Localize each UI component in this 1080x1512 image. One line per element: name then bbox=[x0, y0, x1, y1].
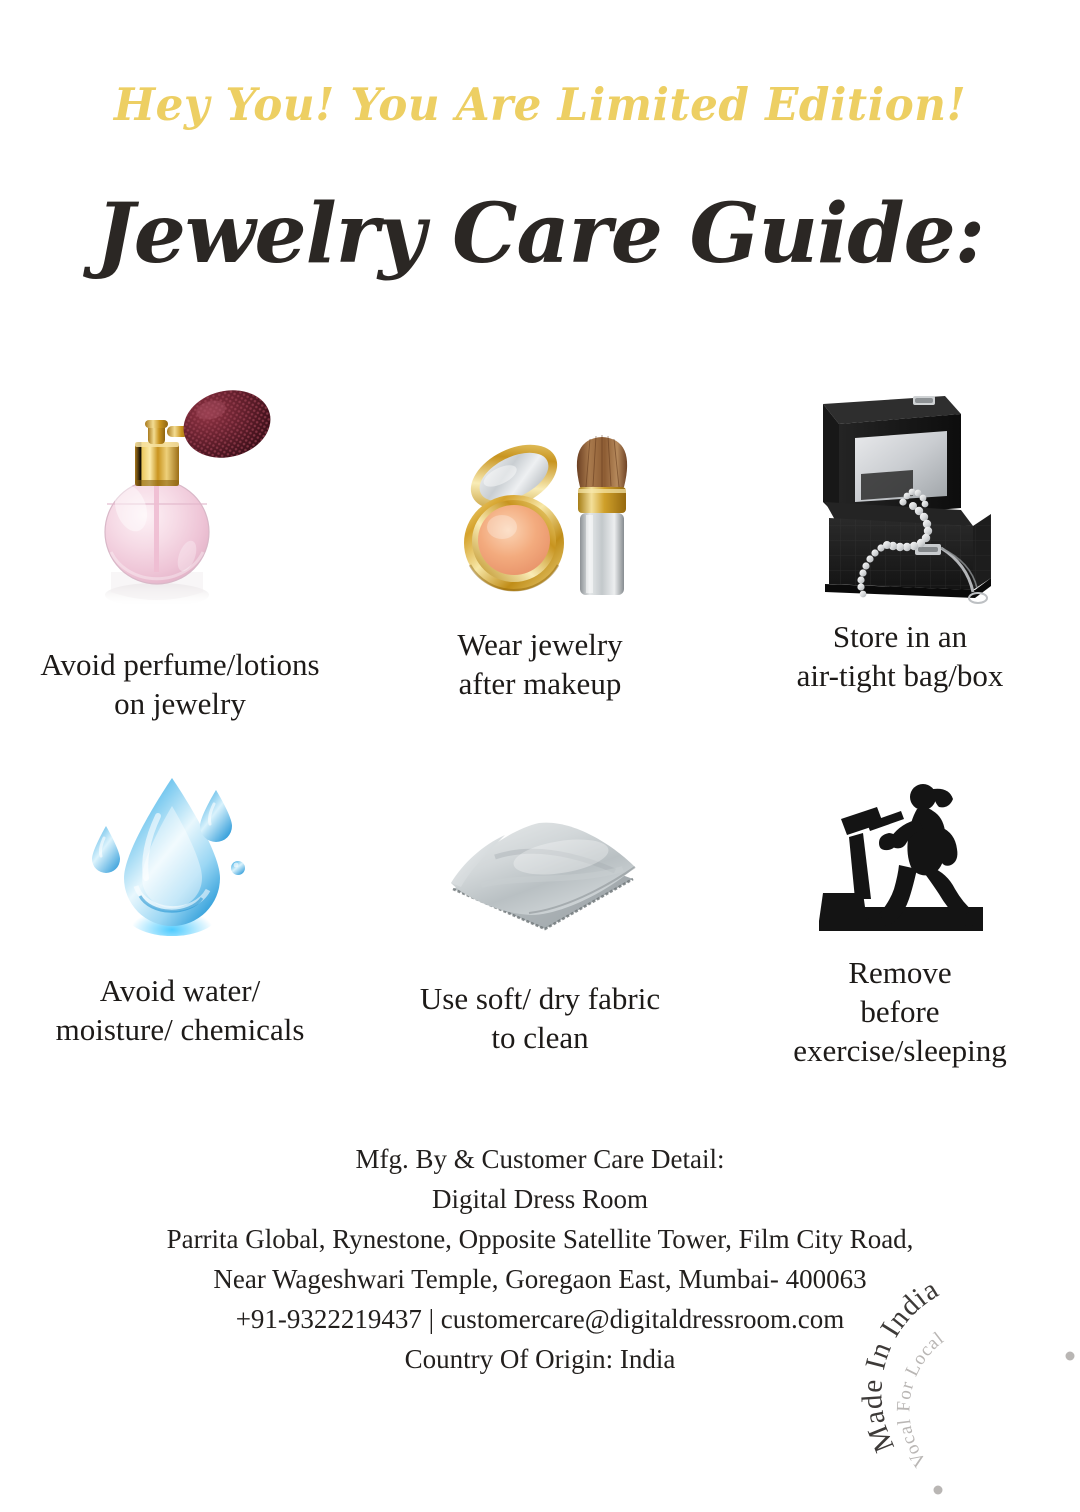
page-title: Jewelry Care Guide: bbox=[0, 186, 1080, 282]
tip-caption: Wear jewelry after makeup bbox=[457, 625, 622, 703]
tip-item-soft-dry-fabric: Use soft/ dry fabric to clean bbox=[360, 745, 720, 1070]
makeup-compact-brush-icon bbox=[440, 380, 640, 615]
tip-item-wear-after-makeup: Wear jewelry after makeup bbox=[360, 380, 720, 723]
footer-line-company: Digital Dress Room bbox=[0, 1180, 1080, 1220]
tip-item-avoid-water: Avoid water/ moisture/ chemicals bbox=[0, 745, 360, 1070]
tip-caption: Remove before exercise/sleeping bbox=[793, 953, 1006, 1070]
made-in-india-badge: Made In India Vocal For Local bbox=[880, 1262, 1080, 1512]
cleaning-cloth-icon bbox=[433, 745, 648, 945]
tip-caption: Avoid perfume/lotions on jewelry bbox=[40, 645, 319, 723]
tip-caption: Use soft/ dry fabric to clean bbox=[420, 979, 660, 1057]
water-drop-icon bbox=[80, 745, 280, 945]
badge-inner-label: Vocal For Local bbox=[893, 1328, 948, 1471]
tips-row: Avoid water/ moisture/ chemicals bbox=[0, 745, 1080, 1070]
tips-row: Avoid perfume/lotions on jewelry bbox=[0, 380, 1080, 723]
tip-item-store-airtight: Store in an air-tight bag/box bbox=[720, 380, 1080, 723]
tagline: Hey You! You Are Limited Edition! bbox=[16, 78, 1064, 131]
footer-line-mfg: Mfg. By & Customer Care Detail: bbox=[0, 1140, 1080, 1180]
treadmill-runner-icon bbox=[805, 745, 995, 945]
badge-dot-right bbox=[1066, 1352, 1075, 1361]
care-tips-grid: Avoid perfume/lotions on jewelry bbox=[0, 380, 1080, 1070]
badge-dot-left bbox=[934, 1486, 943, 1495]
tip-caption: Store in an air-tight bag/box bbox=[797, 617, 1004, 695]
jewelry-box-icon bbox=[795, 380, 1005, 615]
footer-line-address1: Parrita Global, Rynestone, Opposite Sate… bbox=[0, 1220, 1080, 1260]
tip-caption: Avoid water/ moisture/ chemicals bbox=[56, 971, 305, 1049]
tip-item-remove-before-exercise: Remove before exercise/sleeping bbox=[720, 745, 1080, 1070]
tip-item-avoid-perfume: Avoid perfume/lotions on jewelry bbox=[0, 380, 360, 723]
perfume-bottle-icon bbox=[75, 380, 285, 615]
